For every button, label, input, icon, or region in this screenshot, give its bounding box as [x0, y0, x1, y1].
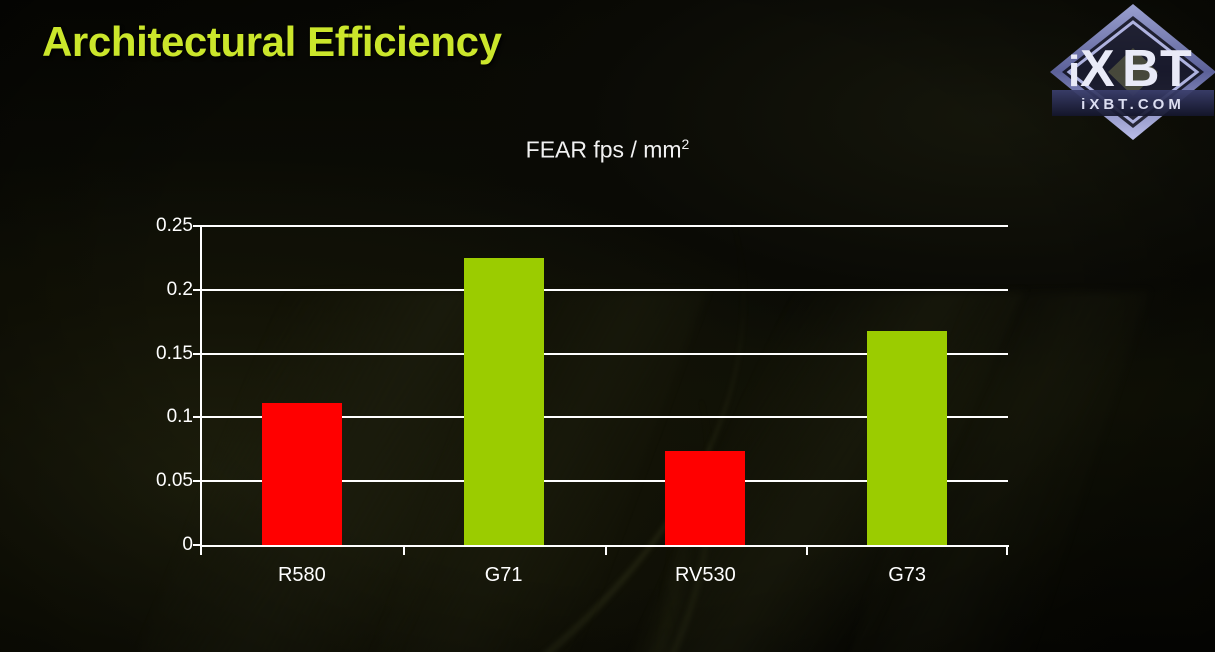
ixbt-logo-graphic: i X B T iXBT.COM — [1048, 2, 1215, 144]
ixbt-logo: i X B T iXBT.COM — [1048, 2, 1215, 144]
svg-text:T: T — [1160, 40, 1192, 98]
background-vignette — [0, 0, 1215, 652]
slide-title: Architectural Efficiency — [42, 18, 502, 66]
svg-text:iXBT.COM: iXBT.COM — [1081, 96, 1185, 113]
svg-text:i: i — [1068, 47, 1078, 96]
slide-background — [0, 0, 1215, 652]
svg-text:B: B — [1122, 40, 1158, 98]
slide-canvas: Architectural Efficiency i X — [0, 0, 1215, 652]
svg-text:X: X — [1080, 40, 1115, 98]
